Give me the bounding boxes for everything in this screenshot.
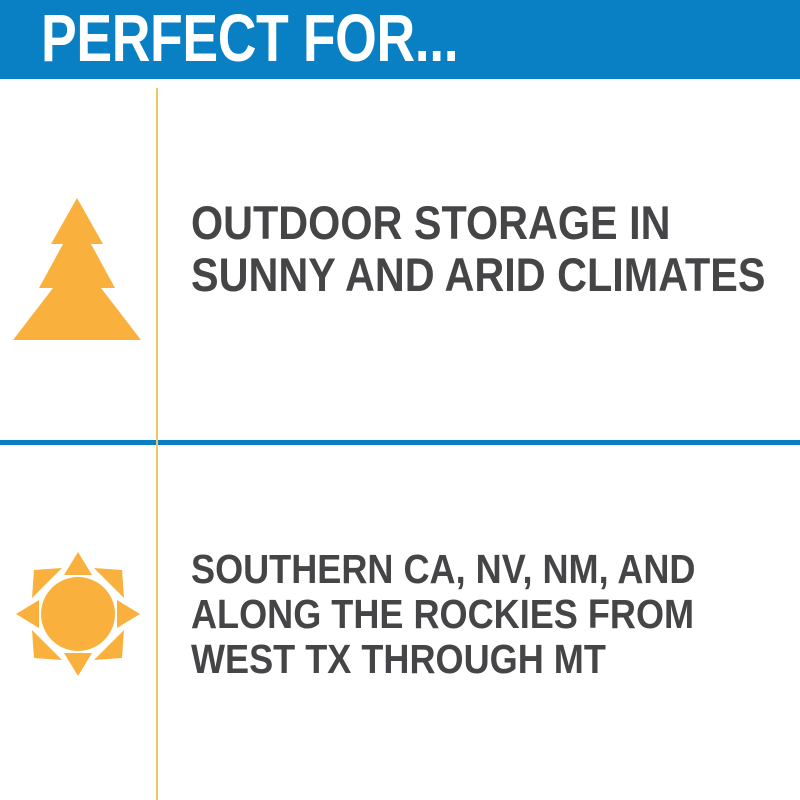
row-icon-cell-regions: [0, 445, 156, 800]
feature-text-line: SOUTHERN CA, NV, NM, AND: [191, 547, 695, 592]
feature-text-outdoor-storage: OUTDOOR STORAGE IN SUNNY AND ARID CLIMAT…: [191, 197, 765, 301]
feature-text-line: WEST TX THROUGH MT: [191, 637, 695, 682]
feature-text-line: ALONG THE ROCKIES FROM: [191, 592, 695, 637]
column-divider: [156, 88, 158, 800]
feature-row-outdoor-storage: OUTDOOR STORAGE IN SUNNY AND ARID CLIMAT…: [0, 88, 800, 440]
perfect-for-infographic: PERFECT FOR... OUTDOOR STORAGE IN SUNNY …: [0, 0, 800, 800]
evergreen-tree-icon: [13, 198, 141, 340]
page-title: PERFECT FOR...: [41, 2, 458, 76]
feature-text-line: SUNNY AND ARID CLIMATES: [191, 249, 765, 301]
sun-icon: [16, 552, 140, 676]
feature-row-regions: SOUTHERN CA, NV, NM, AND ALONG THE ROCKI…: [0, 445, 800, 800]
row-icon-cell-outdoor-storage: [0, 88, 156, 440]
header-banner: PERFECT FOR...: [0, 0, 800, 79]
feature-text-regions: SOUTHERN CA, NV, NM, AND ALONG THE ROCKI…: [191, 547, 695, 682]
feature-text-line: OUTDOOR STORAGE IN: [191, 197, 765, 249]
